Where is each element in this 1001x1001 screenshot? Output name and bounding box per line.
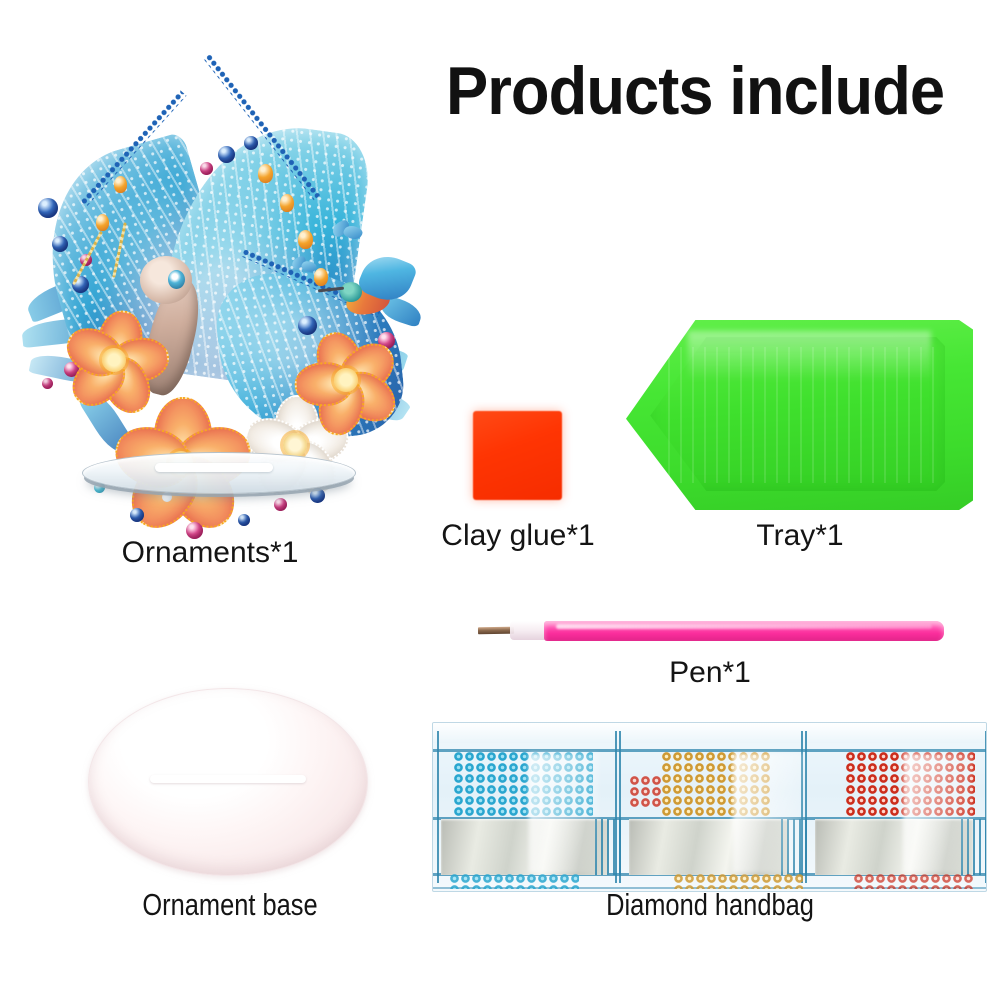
hummingbird-head: [340, 282, 362, 302]
gem-blue: [52, 236, 68, 252]
gem-pink: [42, 378, 53, 389]
pen-metal-tip: [478, 627, 514, 635]
pen-image: [470, 612, 950, 648]
tray-highlight: [688, 331, 931, 380]
ornament-base-slot: [150, 775, 306, 783]
gem-blue: [244, 136, 258, 150]
gem-orange: [298, 230, 313, 249]
gem-blue: [218, 146, 235, 163]
clay-glue-image: [473, 411, 562, 500]
acrylic-stand-disc: [82, 452, 356, 494]
gem-pink: [274, 498, 287, 511]
pen-highlight: [556, 624, 932, 629]
bag-sheen: [529, 753, 599, 873]
ornament-base-label: Ornament base: [103, 888, 357, 922]
gem-white: [162, 492, 172, 502]
pen-label: Pen*1: [590, 656, 830, 690]
gem-blue: [130, 508, 144, 522]
gem-blue: [238, 514, 250, 526]
drills-red-bottom: [853, 873, 973, 889]
product-includes-page: Products include: [0, 0, 1001, 1001]
acrylic-stand-slot: [155, 463, 273, 472]
ornament-base-image: [88, 688, 368, 876]
page-title: Products include: [446, 57, 944, 125]
diamond-handbag-image: [432, 722, 987, 892]
hummingbird: [322, 258, 418, 332]
tray-image: [626, 320, 973, 510]
gem-orange: [114, 176, 127, 193]
clay-glue-label: Clay glue*1: [398, 519, 638, 553]
ornaments-label: Ornaments*1: [0, 536, 420, 570]
bag-sheen: [903, 753, 973, 873]
flower-orange-right: [288, 322, 404, 438]
gem-orange: [280, 194, 294, 212]
gem-orange: [96, 214, 109, 231]
gem-pink: [200, 162, 213, 175]
butterfly-eye: [168, 270, 185, 289]
tray-label: Tray*1: [680, 519, 920, 553]
drills-blue-bottom: [449, 873, 579, 889]
ornaments-image: [22, 110, 422, 510]
bag-sheen: [733, 753, 803, 873]
gem-blue: [38, 198, 58, 218]
bag-zipper-teeth: [595, 819, 623, 875]
gem-blue: [310, 488, 325, 503]
gem-orange: [258, 164, 273, 183]
drills-red-small: [629, 775, 663, 809]
diamond-handbag-label: Diamond handbag: [530, 888, 891, 922]
